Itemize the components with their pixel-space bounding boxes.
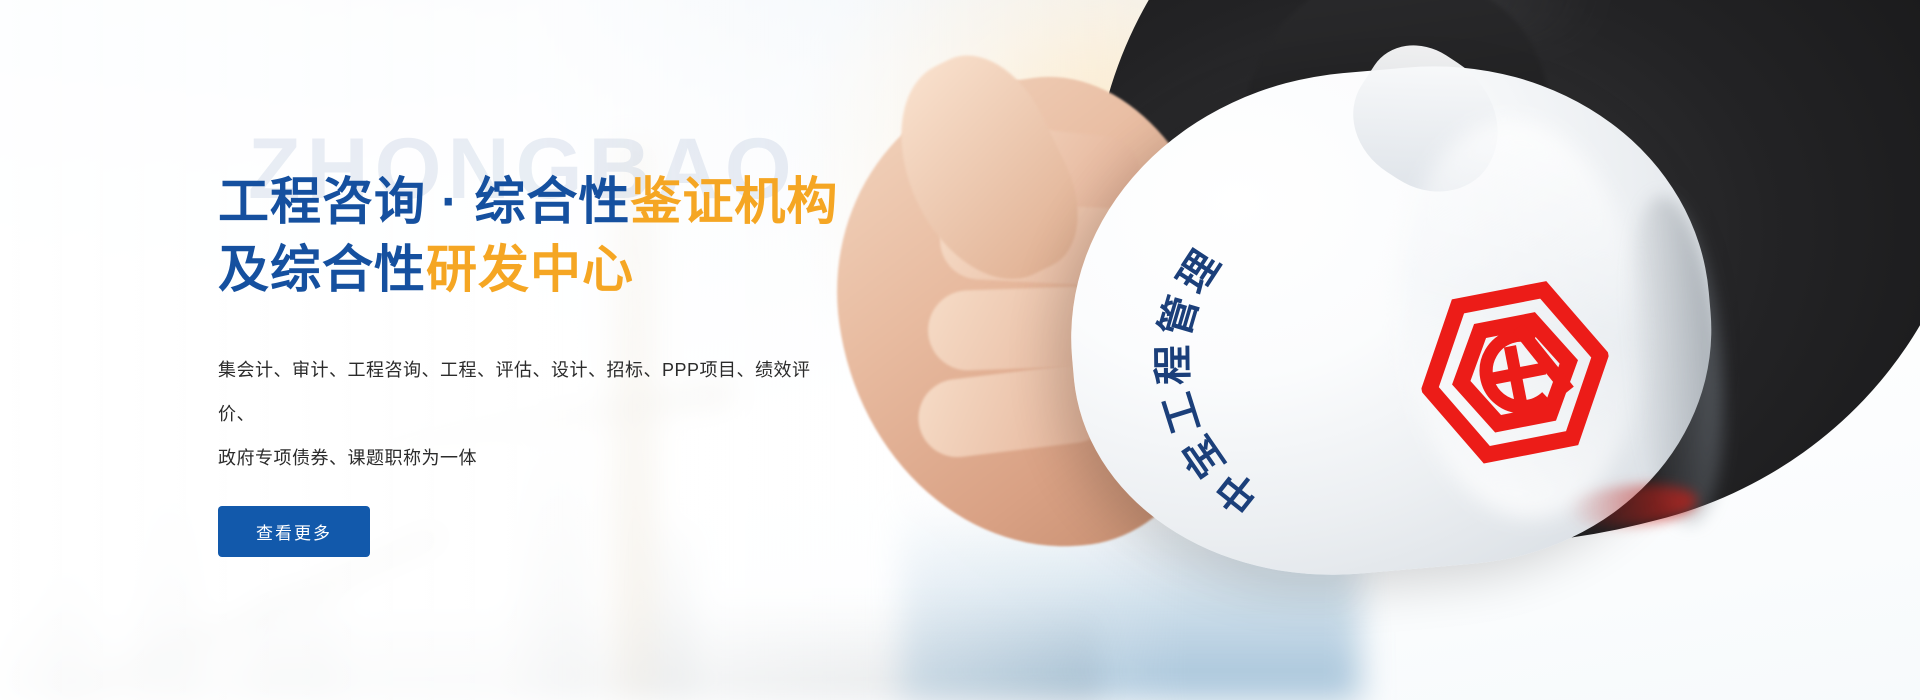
headline-line-1-primary: 工程咨询 · 综合性	[218, 173, 630, 230]
headline-line-1-accent: 鉴证机构	[630, 173, 838, 230]
hero-description-line-1: 集会计、审计、工程咨询、工程、评估、设计、招标、PPP项目、绩效评价、	[218, 348, 818, 436]
hero-description-line-2: 政府专项债券、课题职称为一体	[218, 436, 818, 480]
page-title: 工程咨询 · 综合性鉴证机构 及综合性研发中心	[218, 168, 978, 304]
hero-banner: 中宝工程管理	[0, 0, 1920, 700]
hero-description: 集会计、审计、工程咨询、工程、评估、设计、招标、PPP项目、绩效评价、 政府专项…	[218, 348, 818, 480]
hero-copy-block: ZHONGBAO 工程咨询 · 综合性鉴证机构 及综合性研发中心 集会计、审计、…	[218, 120, 978, 557]
zhongbao-hexagon-logo-icon	[1406, 271, 1625, 474]
headline-line-2-primary: 及综合性	[218, 241, 426, 298]
svg-text:中宝工程管理: 中宝工程管理	[1140, 235, 1270, 528]
headline-line-1: 工程咨询 · 综合性鉴证机构	[218, 168, 978, 236]
headline-line-2: 及综合性研发中心	[218, 236, 978, 304]
headline-line-2-accent: 研发中心	[426, 241, 634, 298]
helmet-brand-text-value: 中宝工程管理	[1140, 235, 1270, 528]
view-more-button[interactable]: 查看更多	[218, 506, 370, 557]
